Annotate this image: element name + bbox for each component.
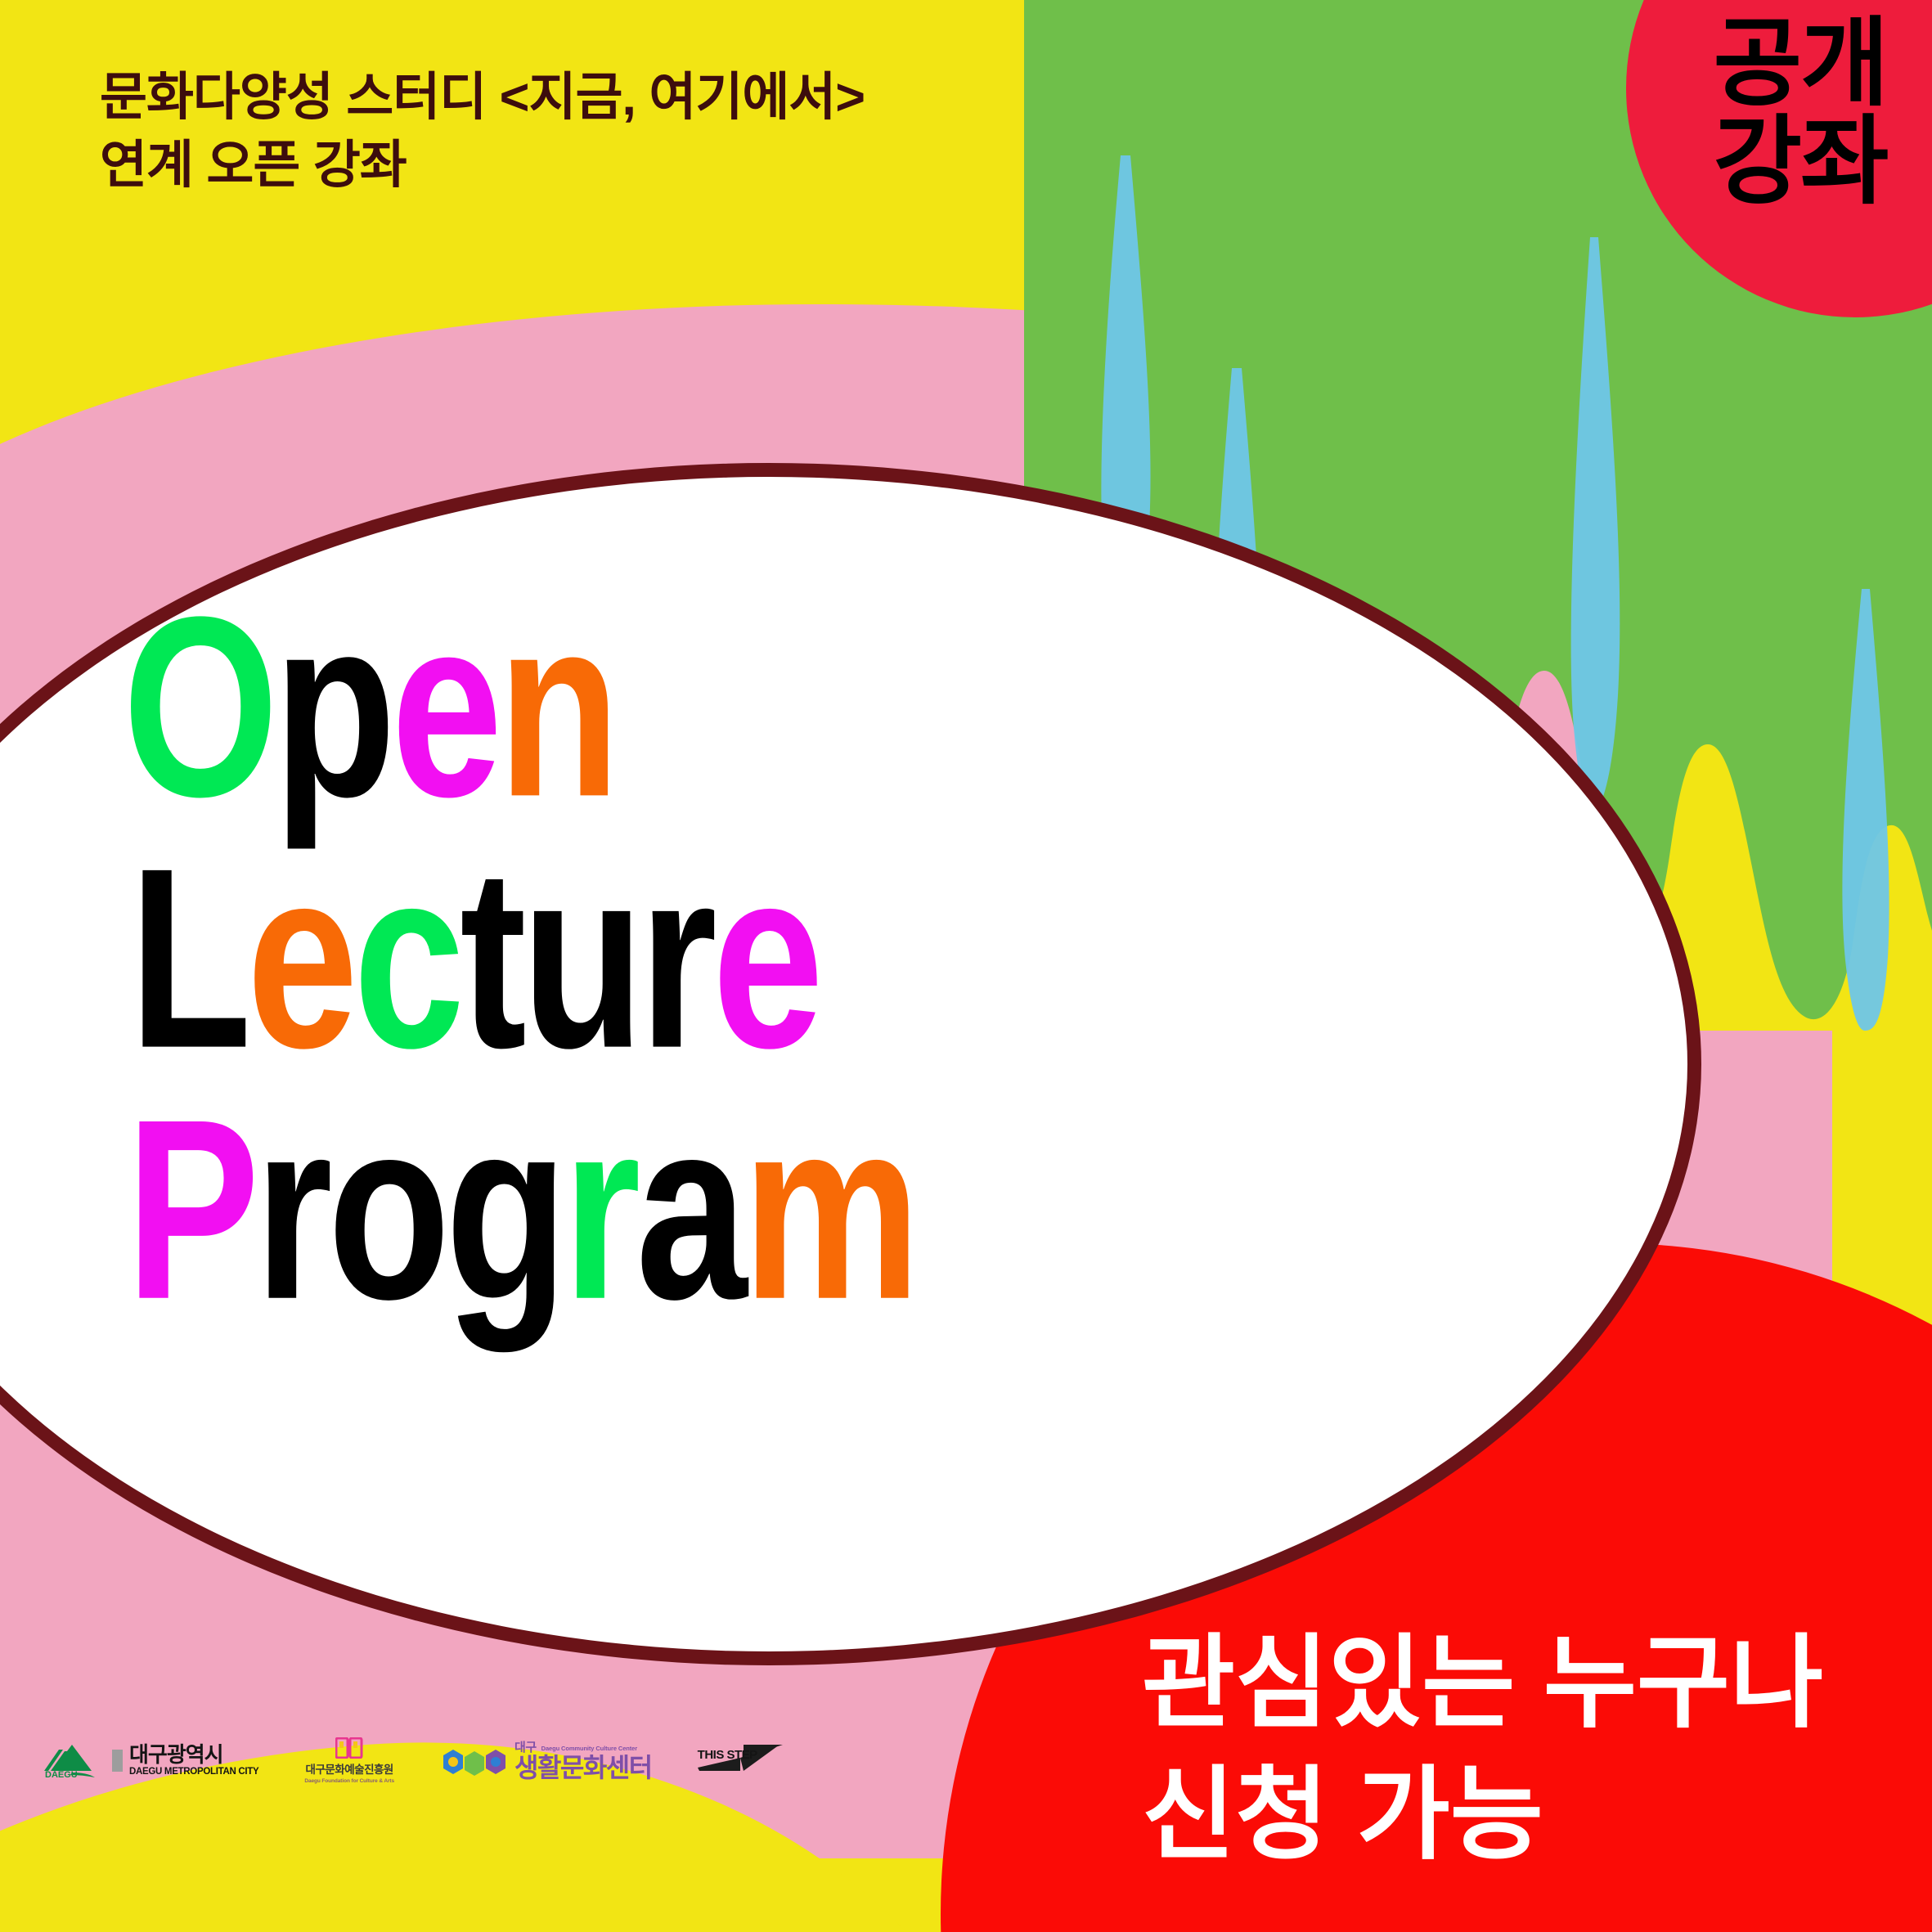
wordmark-open-lecture-program: Open Lecture Program [123, 581, 1284, 1335]
wordmark-letter-lecture-2: c [353, 832, 460, 1083]
daegu-mountain-icon: DAEGU [39, 1743, 103, 1779]
wordmark-line-open: Open [123, 581, 1284, 832]
header-title: 문화다양성 스터디 <지금, 여기에서> 연계 오픈 강좌 [100, 64, 1245, 200]
wordmark-letter-lecture-1: e [247, 832, 353, 1083]
header-line-2: 연계 오픈 강좌 [100, 132, 1245, 200]
poster-canvas: 문화다양성 스터디 <지금, 여기에서> 연계 오픈 강좌 공개 강좌 Open… [0, 0, 1932, 1932]
wordmark-letter-program-0: P [126, 1084, 254, 1335]
header-line-1: 문화다양성 스터디 <지금, 여기에서> [100, 64, 1245, 132]
daegu-logo-en: DAEGU METROPOLITAN CITY [129, 1768, 258, 1777]
dccc-logo-kr-big: 생활문화센터 [514, 1755, 652, 1781]
wordmark-letter-program-1: r [254, 1084, 327, 1335]
sponsor-logo-strip: DAEGU 대구광역시 DAEGU METROPOLITAN CITY 대구문화… [39, 1737, 783, 1784]
wordmark-line-lecture: Lecture [123, 832, 1284, 1083]
wordmark-letter-program-2: o [328, 1084, 446, 1335]
wordmark-letter-lecture-5: r [639, 832, 712, 1083]
wordmark-letter-open-0: O [123, 581, 274, 832]
wordmark-line-program: Program [123, 1084, 1284, 1335]
wordmark-letter-lecture-4: u [522, 832, 640, 1083]
dfca-symbol-icon [335, 1737, 363, 1759]
wordmark-letter-open-3: n [498, 581, 616, 832]
dccc-logo-text: 대구 Daegu Community Culture Center 생활문화센터 [514, 1741, 652, 1781]
cta-line-2: 신청 가능 [1142, 1750, 1911, 1881]
this-step-label: THIS STEP [698, 1748, 757, 1762]
dccc-logo-kr-small: 대구 [514, 1741, 537, 1754]
logo-daegu-metropolitan-city: DAEGU 대구광역시 DAEGU METROPOLITAN CITY [39, 1743, 258, 1779]
dfca-logo-en: Daegu Foundation for Culture & Arts [304, 1778, 394, 1784]
cta-eligibility-text: 관심있는 누구나 신청 가능 [1142, 1618, 1911, 1881]
dccc-symbol-icon [440, 1744, 509, 1778]
cta-line-1: 관심있는 누구나 [1142, 1618, 1911, 1750]
logo-this-step: THIS STEP [698, 1743, 783, 1779]
badge-line-1: 공개 [1665, 15, 1932, 113]
daegu-logo-text: 대구광역시 DAEGU METROPOLITAN CITY [129, 1744, 258, 1777]
wordmark-letter-program-4: r [563, 1084, 636, 1335]
wordmark-letter-program-6: m [743, 1084, 916, 1335]
dfca-logo-kr: 대구문화예술진흥원 [306, 1760, 393, 1777]
wordmark-letter-program-5: a [636, 1084, 742, 1335]
logo-daegu-foundation-culture-arts: 대구문화예술진흥원 Daegu Foundation for Culture &… [304, 1737, 394, 1784]
badge-line-2: 강좌 [1665, 113, 1932, 211]
wordmark-letter-open-2: e [391, 581, 497, 832]
wordmark-letter-lecture-0: L [129, 832, 247, 1083]
logo-daegu-community-culture-center: 대구 Daegu Community Culture Center 생활문화센터 [440, 1741, 652, 1781]
daegu-divider-bar [112, 1750, 123, 1772]
svg-text:DAEGU: DAEGU [45, 1770, 78, 1779]
daegu-logo-kr: 대구광역시 [129, 1744, 258, 1765]
wordmark-letter-lecture-6: e [712, 832, 819, 1083]
badge-label: 공개 강좌 [1665, 15, 1932, 212]
wordmark-letter-program-3: g [445, 1084, 563, 1335]
wordmark-letter-lecture-3: t [460, 832, 522, 1083]
wordmark-letter-open-1: p [274, 581, 392, 832]
